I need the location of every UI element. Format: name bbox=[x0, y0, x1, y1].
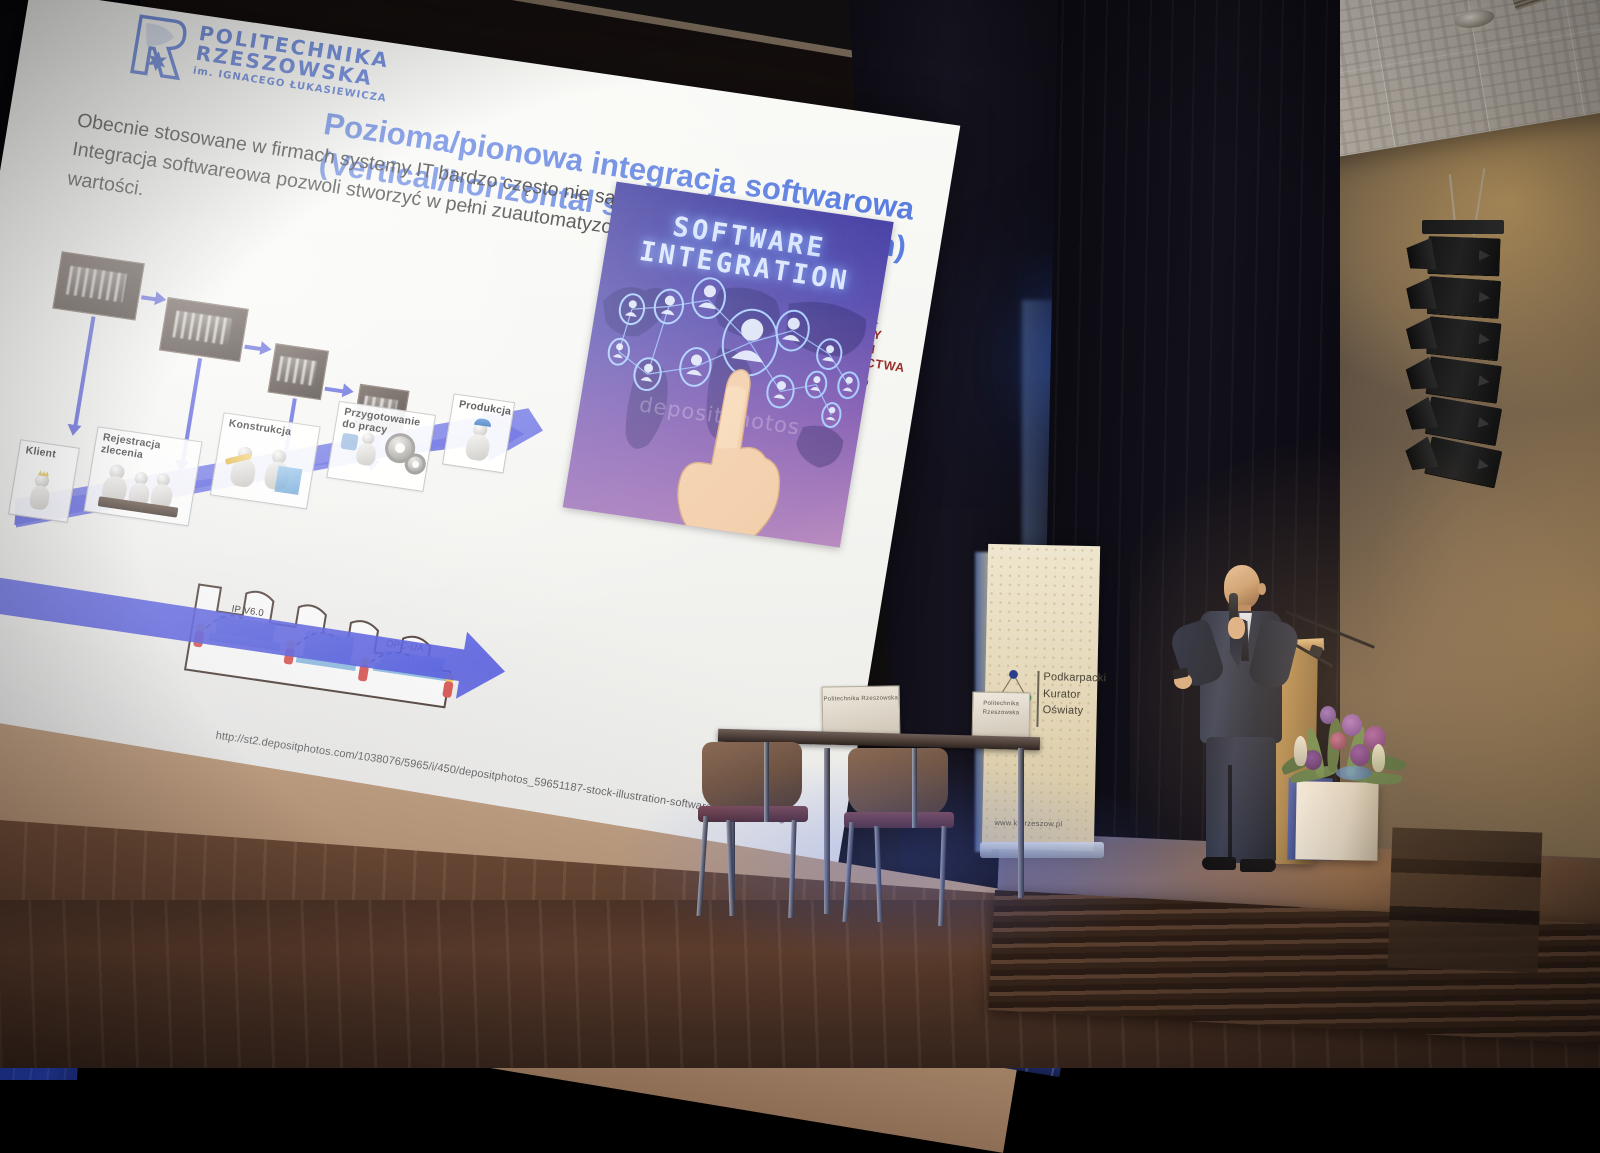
presenter-legs bbox=[1206, 737, 1276, 863]
tent-card-text: Politechnika Rzeszowska bbox=[973, 700, 1029, 719]
table-leg bbox=[824, 748, 830, 914]
banner-base bbox=[980, 842, 1104, 858]
banner-text: Podkarpacki Kurator Oświaty bbox=[1043, 669, 1107, 720]
banner-url: www.ko.rzeszow.pl bbox=[994, 818, 1062, 828]
software-integration-image: SOFTWARE INTEGRATION bbox=[563, 182, 894, 548]
presenter-shoe bbox=[1202, 857, 1236, 870]
name-tent-card: Politechnika Rzeszowska bbox=[972, 691, 1031, 738]
presenter bbox=[1180, 565, 1300, 875]
banner-line3: Oświaty bbox=[1043, 702, 1106, 720]
prz-emblem-icon bbox=[128, 14, 191, 81]
presenter-shoe bbox=[1240, 859, 1276, 872]
presenter-ear bbox=[1258, 583, 1266, 595]
table-leg bbox=[1018, 748, 1024, 898]
auditorium-scene: POLITECHNIKA RZESZOWSKA im. IGNACEGO ŁUK… bbox=[0, 0, 1600, 1068]
tent-card-text: Politechnika Rzeszowska bbox=[823, 694, 899, 704]
banner-line1: Podkarpacki bbox=[1043, 669, 1106, 687]
banner-line2: Kurator bbox=[1043, 686, 1106, 704]
presenter-right-hand bbox=[1228, 617, 1245, 639]
banner-divider bbox=[1036, 671, 1039, 727]
presenter-leg-gap bbox=[1228, 765, 1232, 863]
process-flow-diagram: Klient Rejestracja zlecenia Kons bbox=[0, 245, 603, 750]
line-array-speaker bbox=[1410, 232, 1502, 487]
lower-value-chain-arrow-icon bbox=[0, 245, 603, 760]
name-tent-card: Politechnika Rzeszowska bbox=[822, 685, 901, 736]
stage-steps bbox=[1388, 827, 1543, 972]
